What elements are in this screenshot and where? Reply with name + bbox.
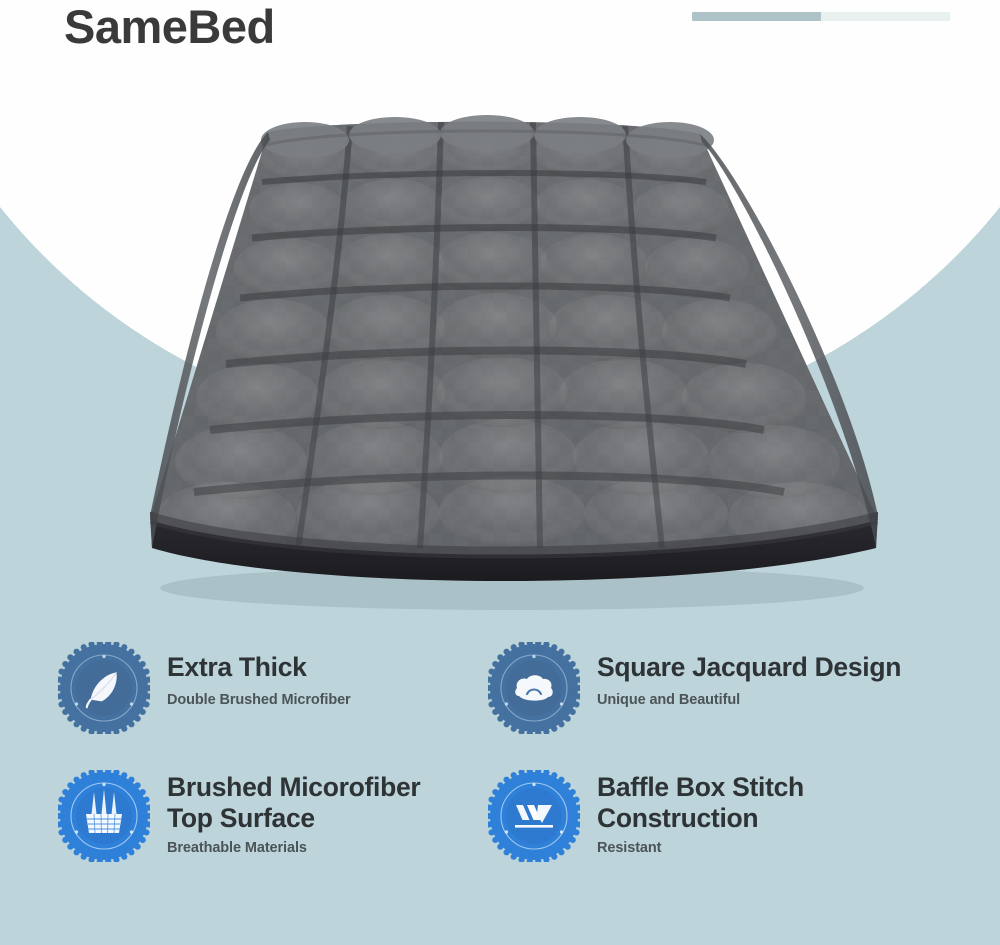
feature-item-brushed-microfiber: Brushed Micorofiber Top Surface Breathab… — [58, 764, 488, 892]
feature-text: Baffle Box Stitch Construction Resistant — [597, 764, 804, 856]
feature-item-square-jacquard: Square Jacquard Design Unique and Beauti… — [488, 636, 958, 764]
mattress-surface — [100, 100, 920, 590]
pillow-icon — [488, 642, 580, 734]
feature-subtitle: Double Brushed Microfiber — [167, 692, 351, 708]
feature-subtitle: Resistant — [597, 840, 804, 856]
feather-icon — [58, 642, 150, 734]
crown-w-icon — [488, 770, 580, 862]
feature-subtitle: Breathable Materials — [167, 840, 420, 856]
product-image — [0, 0, 1000, 640]
feature-title: Square Jacquard Design — [597, 652, 901, 683]
feature-title: Extra Thick — [167, 652, 351, 683]
feature-text: Extra Thick Double Brushed Microfiber — [167, 636, 351, 708]
brushed-bed-icon — [58, 770, 150, 862]
feature-text: Brushed Micorofiber Top Surface Breathab… — [167, 764, 420, 856]
brand-title: SameBed — [64, 0, 275, 54]
progress-bar-track — [692, 12, 950, 21]
feature-subtitle: Unique and Beautiful — [597, 692, 901, 708]
feature-item-extra-thick: Extra Thick Double Brushed Microfiber — [58, 636, 488, 764]
product-infographic: SameBed — [0, 0, 1000, 945]
feature-text: Square Jacquard Design Unique and Beauti… — [597, 636, 901, 708]
feature-list: Extra Thick Double Brushed Microfiber — [0, 636, 1000, 945]
feature-title: Brushed Micorofiber Top Surface — [167, 772, 420, 833]
progress-bar-fill — [692, 12, 821, 21]
feature-title: Baffle Box Stitch Construction — [597, 772, 804, 833]
feature-item-baffle-box: Baffle Box Stitch Construction Resistant — [488, 764, 958, 892]
